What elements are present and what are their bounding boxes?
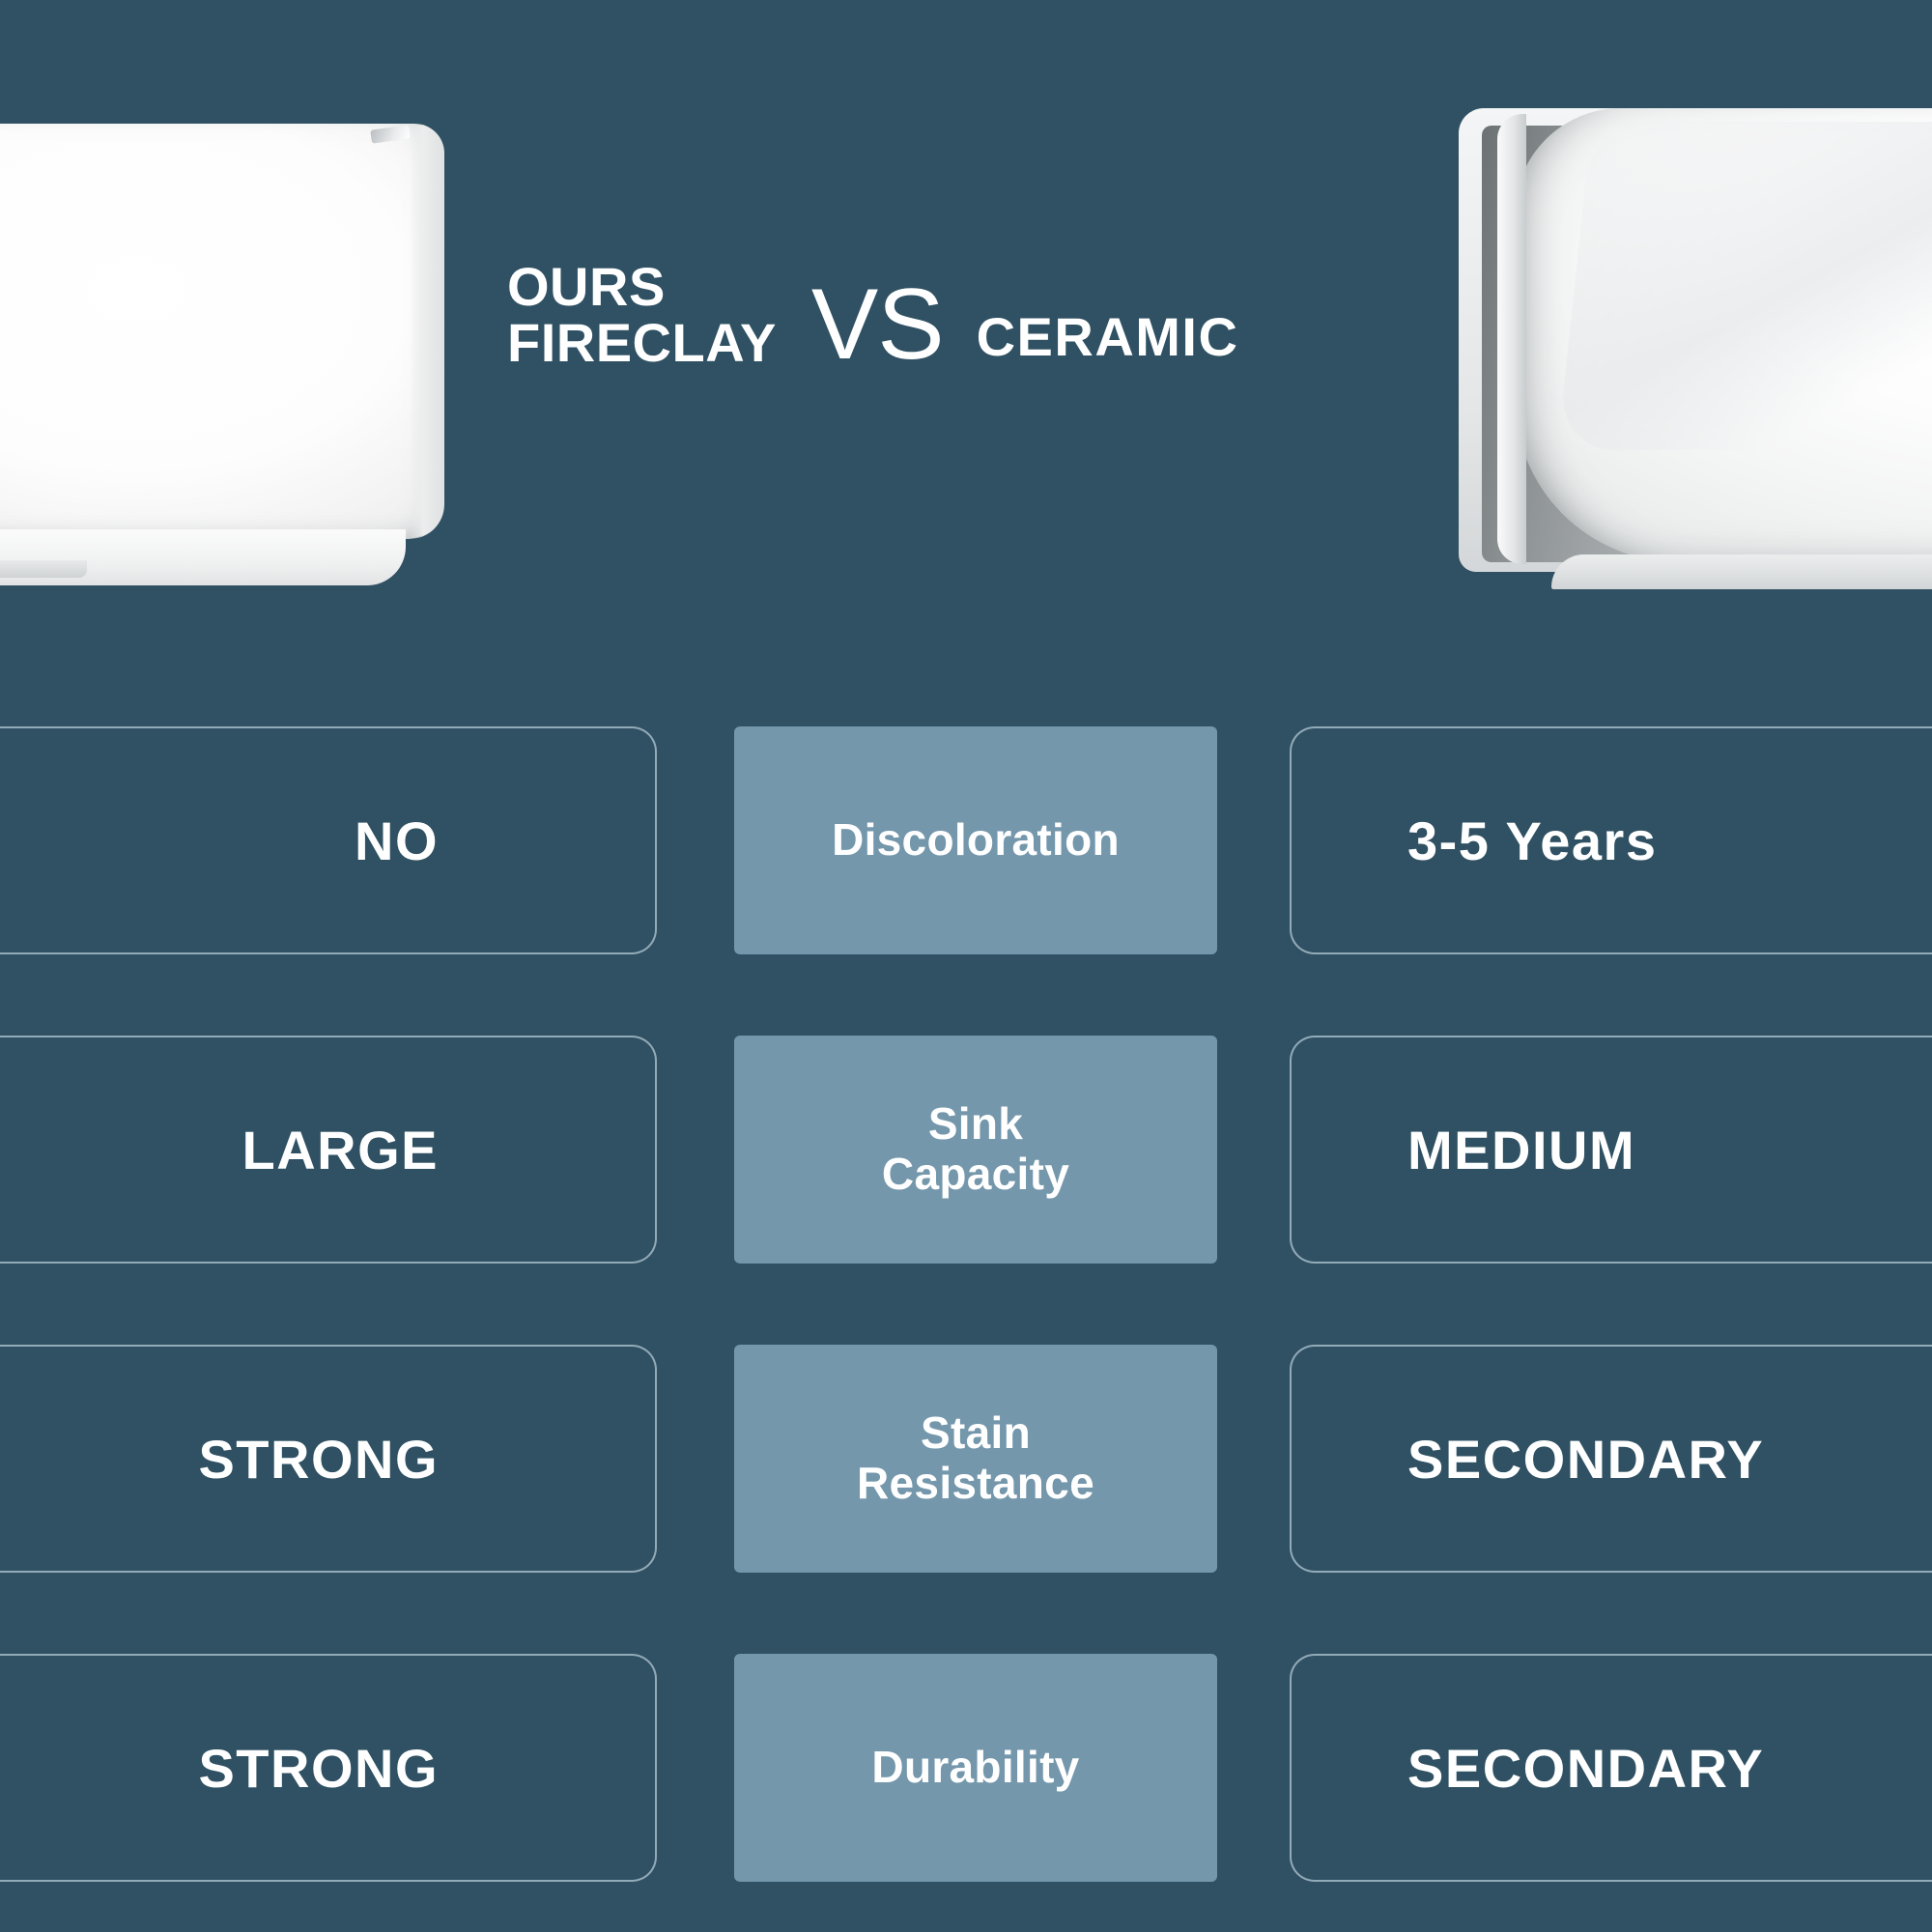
ceramic-value: SECONDARY [1407, 1428, 1764, 1491]
ceramic-value-cell: MEDIUM [1290, 1036, 1932, 1264]
title-versus: VS [811, 279, 944, 372]
fireclay-sink-apron-lip [0, 560, 87, 578]
title-ceramic: CERAMIC [977, 309, 1239, 371]
attribute-label: Durability [871, 1743, 1079, 1793]
attribute-label-pill: Discoloration [734, 726, 1217, 954]
ceramic-sink-base [1551, 554, 1932, 589]
ceramic-value-cell: SECONDARY [1290, 1654, 1932, 1882]
fireclay-sink-basin [0, 124, 444, 539]
attribute-label: Sink Capacity [882, 1099, 1069, 1199]
attribute-label-pill: Sink Capacity [734, 1036, 1217, 1264]
comparison-title: OURS FIRECLAY VS CERAMIC [507, 259, 1473, 371]
comparison-grid: NO Discoloration 3-5 Years LARGE Sink Ca… [0, 726, 1932, 1882]
hero-header: OURS FIRECLAY VS CERAMIC [0, 0, 1932, 618]
attribute-label-pill: Durability [734, 1654, 1217, 1882]
comparison-row: STRONG Stain Resistance SECONDARY [0, 1345, 1932, 1573]
fireclay-sink-right-edge [410, 124, 444, 539]
ours-value-cell: STRONG [0, 1345, 657, 1573]
ours-value: LARGE [242, 1119, 440, 1181]
comparison-row: STRONG Durability SECONDARY [0, 1654, 1932, 1882]
fireclay-sink-image [0, 124, 444, 578]
ceramic-value: MEDIUM [1407, 1119, 1635, 1181]
attribute-label: Discoloration [832, 815, 1120, 866]
ceramic-sink-image [1459, 108, 1932, 591]
ours-value: STRONG [198, 1428, 439, 1491]
attribute-label: Stain Resistance [857, 1408, 1094, 1508]
ceramic-value: SECONDARY [1407, 1737, 1764, 1800]
attribute-label-pill: Stain Resistance [734, 1345, 1217, 1573]
ours-value-cell: LARGE [0, 1036, 657, 1264]
ceramic-value: 3-5 Years [1407, 810, 1657, 872]
ceramic-value-cell: 3-5 Years [1290, 726, 1932, 954]
ours-value: NO [355, 810, 439, 872]
ceramic-sink-sheen [1557, 122, 1932, 450]
ours-value-cell: STRONG [0, 1654, 657, 1882]
comparison-row: LARGE Sink Capacity MEDIUM [0, 1036, 1932, 1264]
title-ours-fireclay: OURS FIRECLAY [507, 259, 777, 371]
ours-value-cell: NO [0, 726, 657, 954]
ours-value: STRONG [198, 1737, 439, 1800]
ceramic-value-cell: SECONDARY [1290, 1345, 1932, 1573]
ceramic-sink-left-rim [1497, 114, 1526, 564]
comparison-row: NO Discoloration 3-5 Years [0, 726, 1932, 954]
